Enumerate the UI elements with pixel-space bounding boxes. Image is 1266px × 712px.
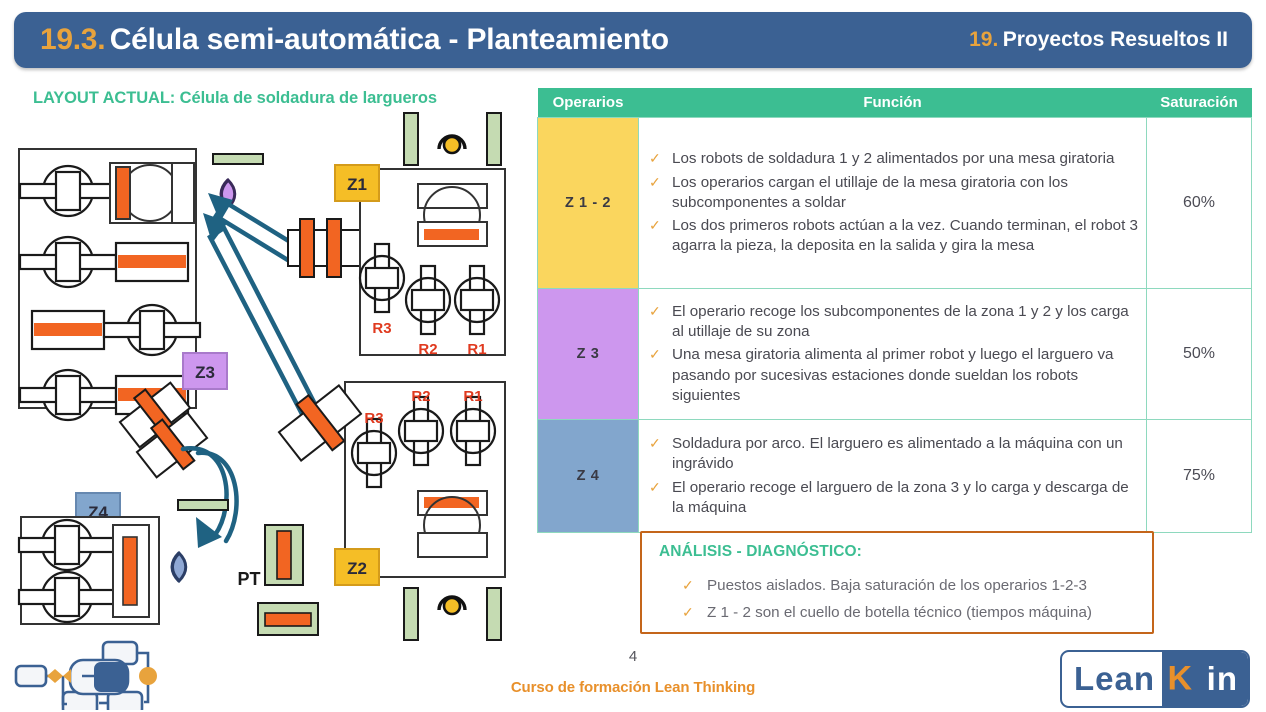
function-list: ✓El operario recoge los subcomponentes d… bbox=[645, 302, 1138, 406]
check-icon: ✓ bbox=[649, 216, 661, 235]
robot-label-r2-top: R2 bbox=[418, 341, 437, 358]
zone-label-z2: Z2 bbox=[335, 549, 379, 585]
header-title: Célula semi-automática - Planteamiento bbox=[110, 23, 669, 56]
factory-layout-diagram: Z3 Z1 R3 R2 bbox=[0, 105, 536, 650]
list-item: ✓Una mesa giratoria alimenta al primer r… bbox=[645, 345, 1138, 406]
operator-icon-yellow-z1 bbox=[439, 136, 465, 153]
pallet-strip-top bbox=[213, 154, 263, 164]
logo-text-lean: Lean bbox=[1074, 660, 1155, 698]
table-cell-function: ✓Los robots de soldadura 1 y 2 alimentad… bbox=[639, 118, 1147, 289]
pallet-strip-z4 bbox=[178, 500, 228, 510]
list-item-text: El operario recoge los subcomponentes de… bbox=[672, 303, 1129, 340]
logo-text-in: in bbox=[1207, 660, 1238, 698]
table-row: Z 4 ✓Soldadura por arco. El larguero es … bbox=[538, 420, 1252, 533]
pallet-bar-z2-left bbox=[404, 588, 418, 640]
operator-icon-blue-z4 bbox=[172, 553, 186, 581]
list-item: ✓Los operarios cargan el utillaje de la … bbox=[645, 173, 1138, 213]
function-list: ✓Soldadura por arco. El larguero es alim… bbox=[645, 434, 1138, 518]
table-row: Z 1 - 2 ✓Los robots de soldadura 1 y 2 a… bbox=[538, 118, 1252, 289]
pt-pallet-vertical bbox=[265, 525, 303, 585]
analysis-box: ANÁLISIS - DIAGNÓSTICO: ✓Puestos aislado… bbox=[640, 531, 1154, 634]
zone-label-z2-text: Z2 bbox=[347, 559, 367, 578]
zone-label-z3-text: Z3 bbox=[195, 363, 215, 382]
pallet-bar-z1-right bbox=[487, 113, 501, 165]
leankin-logo: Lean K in bbox=[1060, 650, 1250, 708]
analysis-title: ANÁLISIS - DIAGNÓSTICO: bbox=[659, 543, 862, 561]
pallet-bar-z2-right bbox=[487, 588, 501, 640]
list-item-text: Puestos aislados. Baja saturación de los… bbox=[707, 577, 1087, 594]
list-item-text: El operario recoge el larguero de la zon… bbox=[672, 479, 1129, 516]
zone-label-z1-text: Z1 bbox=[347, 175, 367, 194]
check-icon: ✓ bbox=[682, 603, 694, 621]
table-cell-operator: Z 3 bbox=[538, 289, 639, 420]
zone-label-z3: Z3 bbox=[183, 353, 227, 389]
list-item-text: Los dos primeros robots actúan a la vez.… bbox=[672, 217, 1138, 254]
robot-label-r3-bottom: R3 bbox=[364, 410, 383, 427]
list-item: ✓Soldadura por arco. El larguero es alim… bbox=[645, 434, 1138, 474]
operator-icon-yellow-z2 bbox=[439, 597, 465, 614]
check-icon: ✓ bbox=[682, 576, 694, 594]
list-item: ✓El operario recoge los subcomponentes d… bbox=[645, 302, 1138, 342]
check-icon: ✓ bbox=[649, 478, 661, 497]
table-header-operarios: Operarios bbox=[538, 88, 639, 118]
header-chapter-group: 19. Proyectos Resueltos II bbox=[969, 28, 1228, 52]
function-list: ✓Los robots de soldadura 1 y 2 alimentad… bbox=[645, 149, 1138, 256]
check-icon: ✓ bbox=[649, 149, 661, 168]
table-row: Z 3 ✓El operario recoge los subcomponent… bbox=[538, 289, 1252, 420]
transfer-conveyor-top bbox=[288, 219, 365, 277]
pt-pallet-horizontal bbox=[258, 603, 318, 635]
operators-function-table: Operarios Función Saturación Z 1 - 2 ✓Lo… bbox=[537, 88, 1252, 533]
slide-header-bar: 19.3. Célula semi-automática - Planteami… bbox=[14, 12, 1252, 68]
pallet-bar-z1-left bbox=[404, 113, 418, 165]
logo-text-k: K bbox=[1167, 660, 1192, 699]
header-title-group: 19.3. Célula semi-automática - Planteami… bbox=[40, 23, 669, 57]
check-icon: ✓ bbox=[649, 302, 661, 321]
table-header-row: Operarios Función Saturación bbox=[538, 88, 1252, 118]
table-header-funcion: Función bbox=[639, 88, 1147, 118]
list-item-text: Una mesa giratoria alimenta al primer ro… bbox=[672, 346, 1114, 403]
header-chapter-number: 19. bbox=[969, 28, 998, 51]
header-chapter-title: Proyectos Resueltos II bbox=[1003, 28, 1228, 51]
list-item: ✓Los dos primeros robots actúan a la vez… bbox=[645, 216, 1138, 256]
check-icon: ✓ bbox=[649, 173, 661, 192]
check-icon: ✓ bbox=[649, 434, 661, 453]
table-cell-saturation: 75% bbox=[1147, 420, 1252, 533]
table-cell-saturation: 60% bbox=[1147, 118, 1252, 289]
robot-label-r1-top: R1 bbox=[467, 341, 486, 358]
check-icon: ✓ bbox=[649, 345, 661, 364]
zone-label-z1: Z1 bbox=[335, 165, 379, 201]
list-item: ✓ El operario recoge el larguero de la z… bbox=[645, 478, 1138, 518]
list-item-text: Soldadura por arco. El larguero es alime… bbox=[672, 435, 1123, 472]
table-cell-operator: Z 1 - 2 bbox=[538, 118, 639, 289]
table-header-saturacion: Saturación bbox=[1147, 88, 1252, 118]
list-item: ✓Z 1 - 2 son el cuello de botella técnic… bbox=[680, 603, 1146, 623]
table-cell-operator: Z 4 bbox=[538, 420, 639, 533]
table-cell-function: ✓El operario recoge los subcomponentes d… bbox=[639, 289, 1147, 420]
process-flow-logo-icon bbox=[8, 640, 178, 710]
list-item-text: Los operarios cargan el utillaje de la m… bbox=[672, 174, 1068, 211]
analysis-list: ✓Puestos aislados. Baja saturación de lo… bbox=[680, 569, 1146, 630]
list-item-text: Los robots de soldadura 1 y 2 alimentado… bbox=[672, 150, 1114, 167]
list-item-text: Z 1 - 2 son el cuello de botella técnico… bbox=[707, 604, 1092, 621]
pt-label: PT bbox=[237, 569, 260, 589]
table-cell-function: ✓Soldadura por arco. El larguero es alim… bbox=[639, 420, 1147, 533]
header-section-number: 19.3. bbox=[40, 23, 105, 56]
robot-label-r3-top: R3 bbox=[372, 320, 391, 337]
table-cell-saturation: 50% bbox=[1147, 289, 1252, 420]
list-item: ✓Puestos aislados. Baja saturación de lo… bbox=[680, 576, 1146, 596]
robot-label-r1-bottom: R1 bbox=[463, 388, 482, 405]
list-item: ✓Los robots de soldadura 1 y 2 alimentad… bbox=[645, 149, 1138, 169]
robot-label-r2-bottom: R2 bbox=[411, 388, 430, 405]
cell-z4-box bbox=[19, 517, 159, 624]
